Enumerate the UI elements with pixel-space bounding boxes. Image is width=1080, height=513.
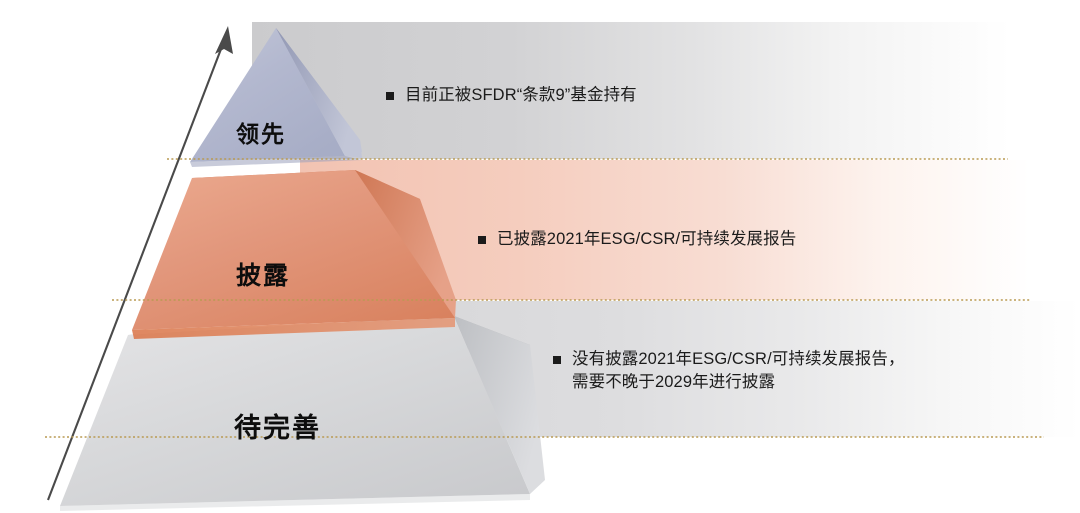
bullet-text-to-improve: 没有披露2021年ESG/CSR/可持续发展报告， 需要不晚于2029年进行披露 xyxy=(572,348,905,395)
bullet-item-leading: 目前正被SFDR“条款9”基金持有 xyxy=(386,84,637,107)
square-bullet-icon xyxy=(553,356,561,364)
bullet-item-disclosed: 已披露2021年ESG/CSR/可持续发展报告 xyxy=(478,228,796,251)
pyramid-tier-disclosed xyxy=(132,170,456,339)
bullet-item-to-improve: 没有披露2021年ESG/CSR/可持续发展报告， 需要不晚于2029年进行披露 xyxy=(553,348,905,395)
square-bullet-icon xyxy=(386,92,394,100)
diagram-canvas xyxy=(0,0,1080,513)
tier-label-leading: 领先 xyxy=(196,115,326,149)
bullet-text-disclosed: 已披露2021年ESG/CSR/可持续发展报告 xyxy=(497,228,796,251)
square-bullet-icon xyxy=(478,236,486,244)
bullet-text-leading: 目前正被SFDR“条款9”基金持有 xyxy=(405,84,637,107)
tier-label-to-improve: 待完善 xyxy=(170,406,385,445)
pyramid-diagram: 领先 披露 待完善 目前正被SFDR“条款9”基金持有 已披露2021年ESG/… xyxy=(0,0,1080,513)
tier-label-disclosed: 披露 xyxy=(188,256,338,292)
